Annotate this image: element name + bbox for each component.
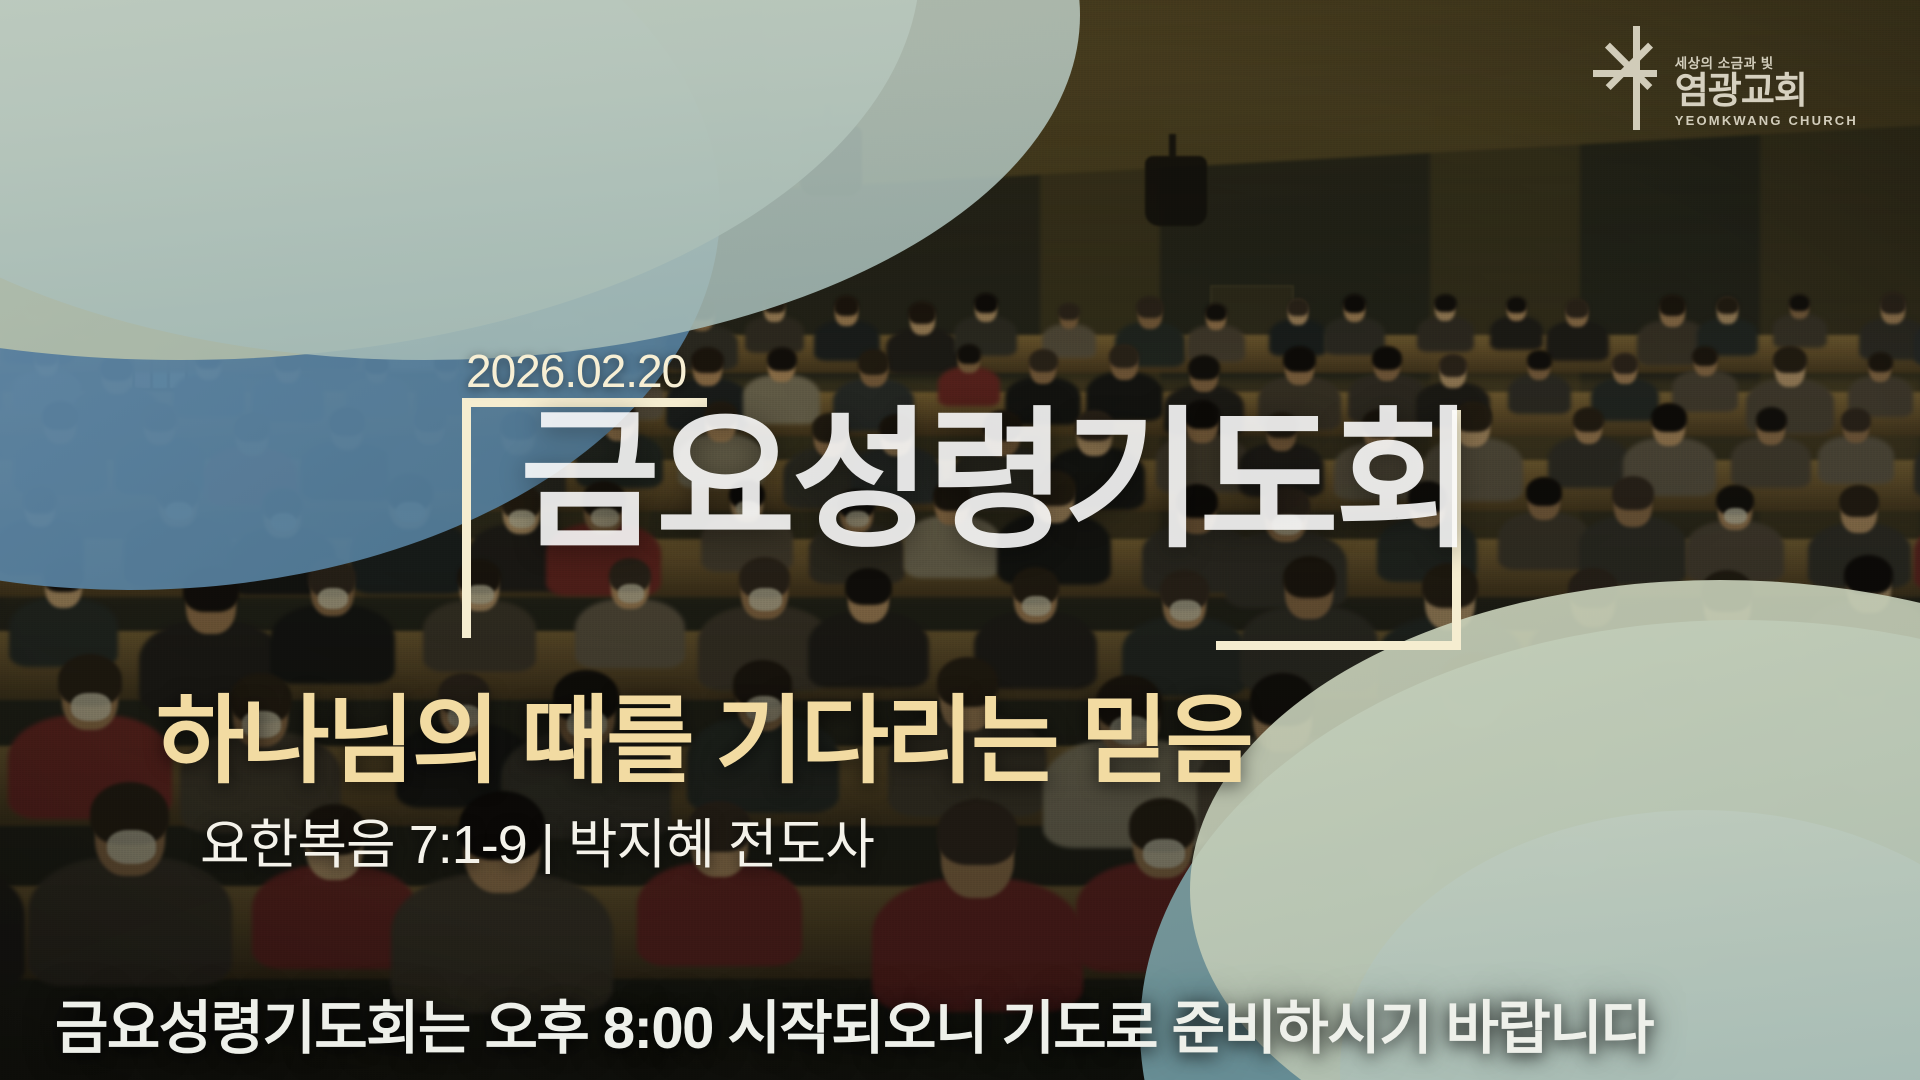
church-cross-logo-icon xyxy=(1593,26,1665,130)
slide-canvas: 세상의 소금과 빛 염광교회 YEOMKWANG CHURCH 2026.02.… xyxy=(0,0,1920,1080)
logo-tagline: 세상의 소금과 빛 xyxy=(1675,52,1774,72)
service-notice: 금요성령기도회는 오후 8:00 시작되오니 기도로 준비하시기 바랍니다 xyxy=(55,1000,1653,1058)
logo-name-korean: 염광교회 xyxy=(1675,73,1807,109)
sermon-scripture-and-speaker: 요한복음 7:1-9 | 박지혜 전도사 xyxy=(200,818,874,872)
church-logo: 세상의 소금과 빛 염광교회 YEOMKWANG CHURCH xyxy=(1593,26,1858,130)
service-date: 2026.02.20 xyxy=(466,348,686,394)
title-frame-bracket-top-left xyxy=(462,398,471,638)
sermon-title: 하나님의 때를 기다리는 믿음 xyxy=(156,694,1251,790)
event-title: 금요성령기도회 xyxy=(520,405,1471,557)
logo-wordmark: 세상의 소금과 빛 염광교회 YEOMKWANG CHURCH xyxy=(1675,52,1858,130)
logo-name-english: YEOMKWANG CHURCH xyxy=(1675,113,1858,128)
title-frame-bracket-bottom-right xyxy=(1216,641,1461,650)
